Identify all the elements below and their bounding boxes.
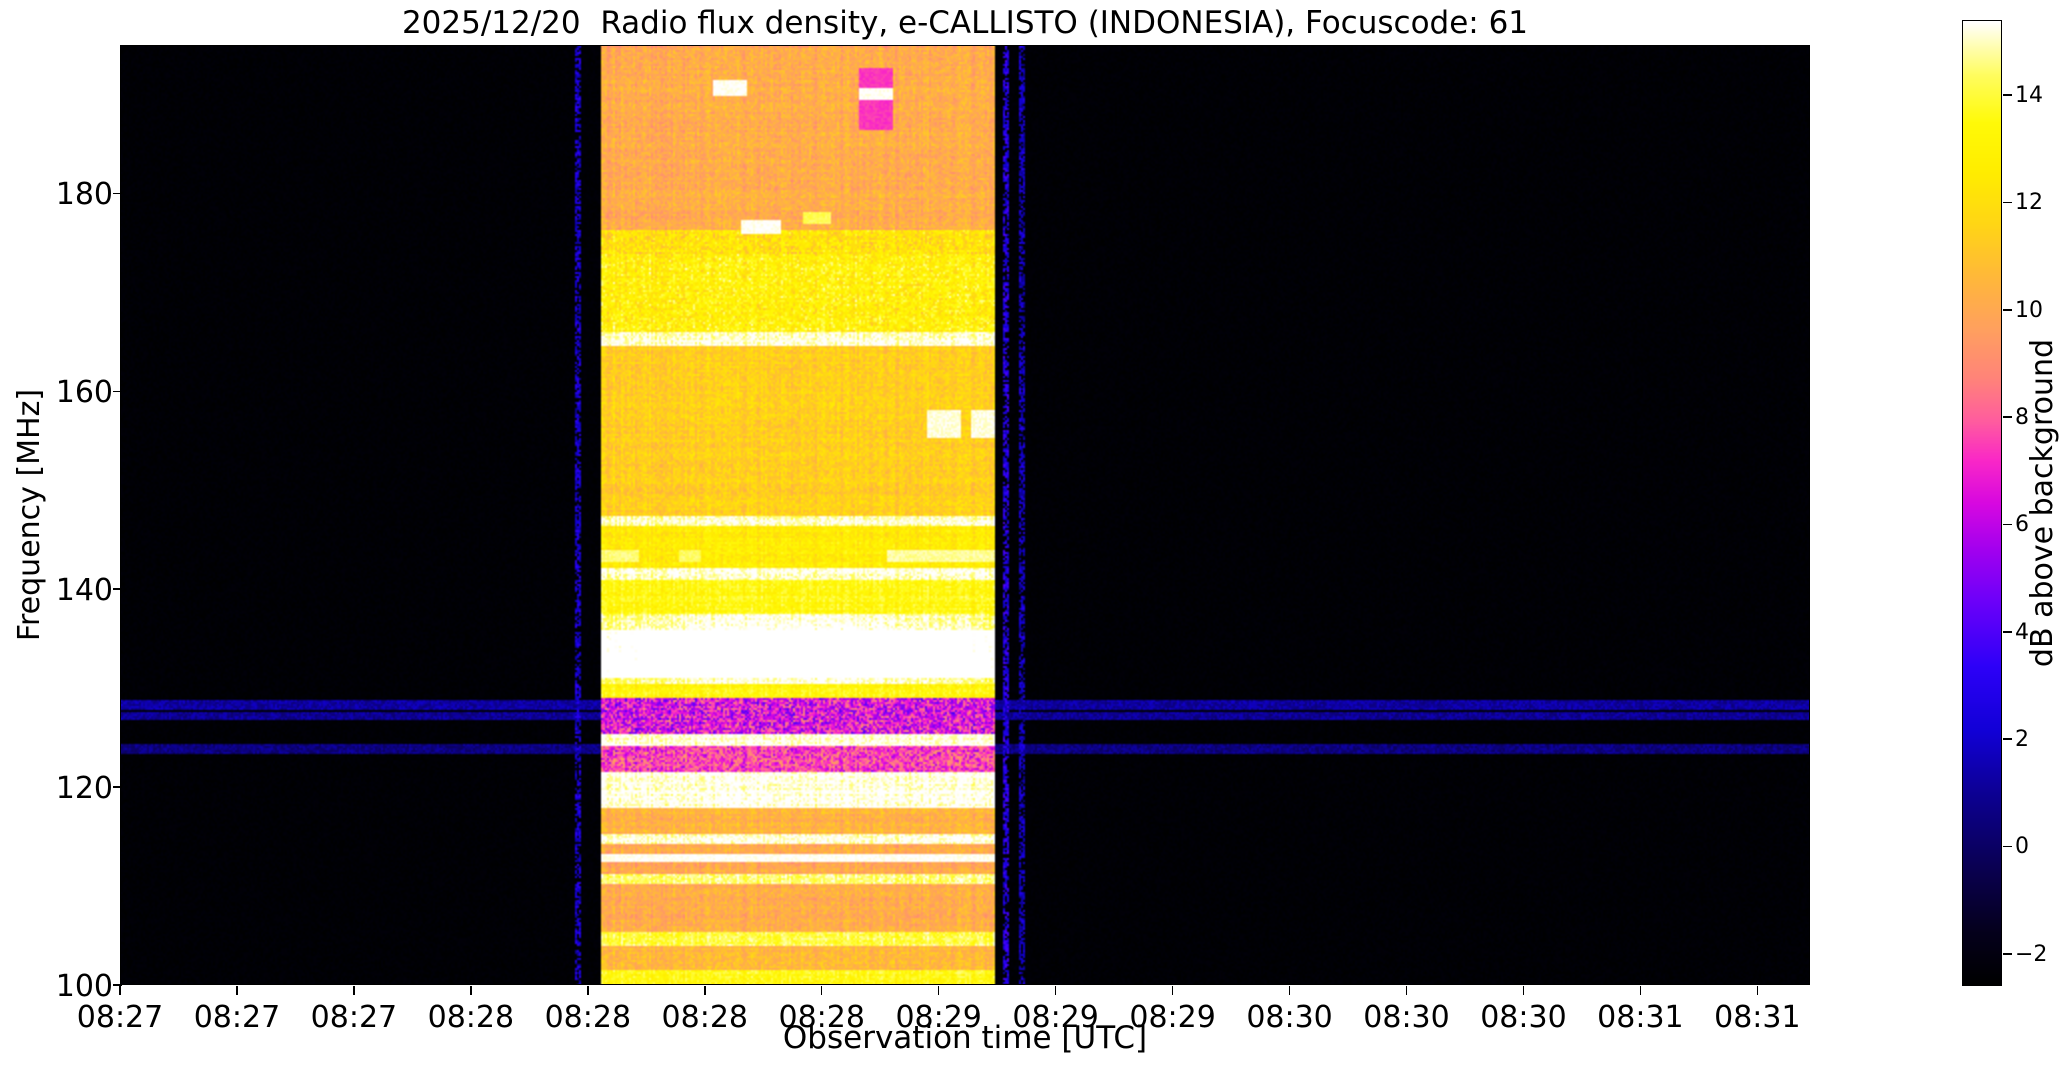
y-axis-tick-mark bbox=[113, 786, 122, 788]
x-axis-tick-mark bbox=[1055, 986, 1057, 995]
y-axis-tick-mark bbox=[113, 391, 122, 393]
x-axis-tick-mark bbox=[1172, 986, 1174, 995]
y-axis-tick-mark bbox=[113, 193, 122, 195]
colorbar-label: dB above background bbox=[2020, 20, 2066, 986]
spectrogram-image bbox=[121, 46, 1810, 985]
x-axis-tick-mark bbox=[119, 986, 121, 995]
colorbar-tick-mark bbox=[2003, 631, 2012, 633]
colorbar bbox=[1962, 20, 2002, 986]
x-axis-tick-mark bbox=[1757, 986, 1759, 995]
x-axis-tick-mark bbox=[236, 986, 238, 995]
x-axis-tick-mark bbox=[938, 986, 940, 995]
colorbar-tick-mark bbox=[2003, 416, 2012, 418]
x-axis-label: Observation time [UTC] bbox=[120, 1020, 1810, 1056]
colorbar-tick-mark bbox=[2003, 309, 2012, 311]
colorbar-tick-mark bbox=[2003, 94, 2012, 96]
x-axis-tick-mark bbox=[1523, 986, 1525, 995]
spectrogram-plot-area bbox=[120, 45, 1810, 985]
x-axis-tick-mark bbox=[1406, 986, 1408, 995]
figure-title: 2025/12/20 Radio flux density, e-CALLIST… bbox=[0, 5, 1930, 41]
x-axis-tick-mark bbox=[704, 986, 706, 995]
x-axis-tick-mark bbox=[470, 986, 472, 995]
y-axis-label: Frequency [MHz] bbox=[10, 45, 50, 985]
colorbar-tick-mark bbox=[2003, 202, 2012, 204]
y-axis-tick-mark bbox=[113, 588, 122, 590]
colorbar-tick-mark bbox=[2003, 846, 2012, 848]
spectrogram-figure: 2025/12/20 Radio flux density, e-CALLIST… bbox=[0, 0, 2066, 1067]
x-axis-tick-mark bbox=[821, 986, 823, 995]
x-axis-tick-mark bbox=[1289, 986, 1291, 995]
x-axis-tick-mark bbox=[353, 986, 355, 995]
colorbar-tick-mark bbox=[2003, 524, 2012, 526]
colorbar-tick-mark bbox=[2003, 738, 2012, 740]
colorbar-gradient bbox=[1963, 21, 2002, 986]
x-axis-tick-mark bbox=[1640, 986, 1642, 995]
colorbar-tick-mark bbox=[2003, 953, 2012, 955]
x-axis-tick-mark bbox=[587, 986, 589, 995]
